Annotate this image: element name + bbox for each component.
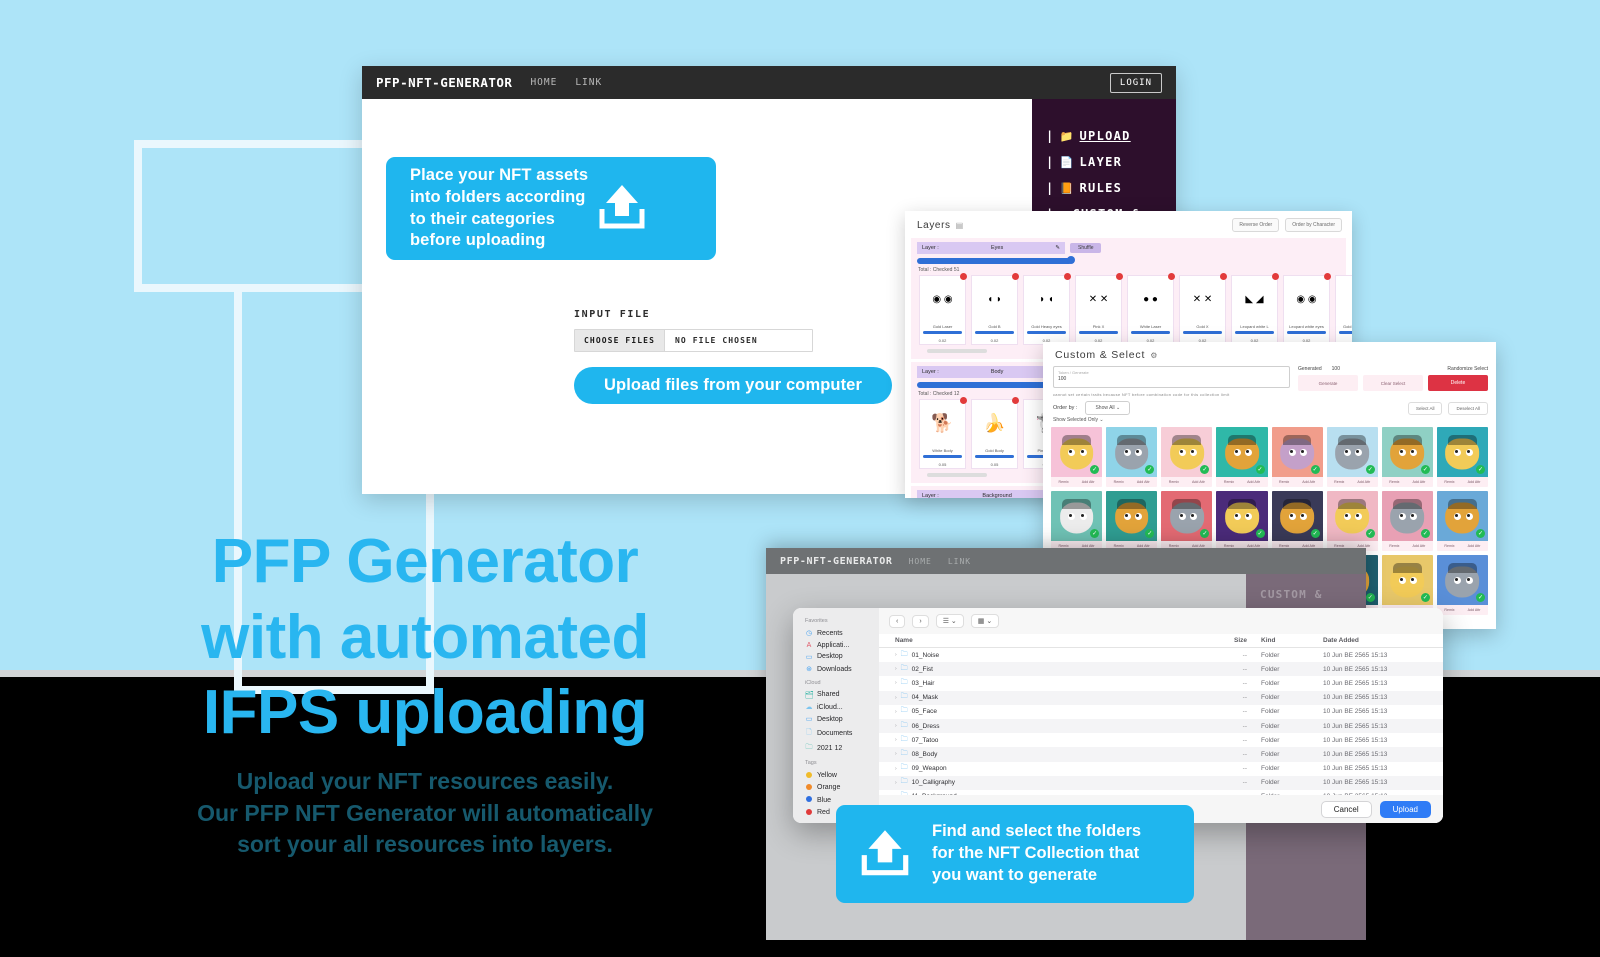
page-subtitle: Upload your NFT resources easily. Our PF… — [130, 766, 720, 861]
thumbnail-image: ◉ ◉ — [1284, 276, 1329, 323]
row-date-cell: 10 Jun BE 2565 15:13 — [1323, 666, 1433, 673]
row-name-cell[interactable]: ›🗀09_Weapon — [895, 763, 1205, 774]
row-date-cell: 10 Jun BE 2565 15:13 — [1323, 737, 1433, 744]
row-size-cell: -- — [1205, 708, 1261, 715]
column-header-size[interactable]: Size — [1205, 637, 1261, 644]
folder-icon: 🗀 — [901, 721, 908, 732]
finder-dialog: Favorites◷RecentsAApplicati...▭Desktop⊛D… — [793, 608, 1443, 823]
select-all-button[interactable]: Select All — [1408, 402, 1443, 415]
finder-sidebar-item[interactable]: 🗀2021 12 — [801, 741, 879, 756]
nft-card[interactable]: ✓RemixAdd Attr — [1051, 427, 1102, 487]
table-row[interactable]: ›🗀05_Face--Folder10 Jun BE 2565 15:13 — [879, 705, 1443, 719]
nft-artwork: ✓ — [1106, 427, 1157, 477]
nft-selected-check[interactable]: ✓ — [1311, 465, 1320, 474]
finder-sidebar-item-label: Blue — [817, 797, 831, 804]
thumbnail-image: 🍌 — [972, 400, 1017, 447]
custom-panel-header: Custom & Select ⚙ — [1043, 342, 1496, 364]
nft-add-attr-button[interactable]: Add Attr — [1468, 480, 1481, 484]
clear-select-button[interactable]: Clear Select — [1363, 375, 1423, 391]
bottom-sidebar-item-custom[interactable]: CUSTOM & — [1260, 588, 1366, 601]
row-name-cell[interactable]: ›🗀10_Calligraphy — [895, 777, 1205, 788]
grid-view-icon[interactable]: ▦ ⌄ — [971, 614, 999, 628]
cancel-button[interactable]: Cancel — [1321, 801, 1372, 818]
thumbnail-image: ✕ ✕ — [1180, 276, 1225, 323]
sidebar-bar-mark: | — [1046, 181, 1055, 195]
book-icon: 📙 — [1060, 183, 1075, 194]
table-row[interactable]: ›🗀06_Dress--Folder10 Jun BE 2565 15:13 — [879, 719, 1443, 733]
nft-selected-check[interactable]: ✓ — [1421, 465, 1430, 474]
thumbnail-image: ◣ ◢ — [1232, 276, 1277, 323]
thumbnail-weight-slider[interactable] — [1079, 331, 1118, 334]
nft-actions: RemixAdd Attr — [1216, 477, 1267, 487]
nft-remix-button[interactable]: Remix — [1389, 544, 1399, 548]
generate-buttons: Generate Clear Select Delete — [1298, 375, 1488, 391]
login-button[interactable]: LOGIN — [1110, 73, 1162, 93]
nft-selected-check[interactable]: ✓ — [1090, 529, 1099, 538]
thumbnail-image: ✕ ✕ — [1076, 276, 1121, 323]
row-size-cell: -- — [1205, 751, 1261, 758]
tag-dot-icon — [805, 796, 813, 804]
row-date-cell: 10 Jun BE 2565 15:13 — [1323, 680, 1433, 687]
nft-add-attr-button[interactable]: Add Attr — [1413, 544, 1426, 548]
nft-selected-check[interactable]: ✓ — [1145, 529, 1154, 538]
nft-remix-button[interactable]: Remix — [1444, 608, 1454, 612]
chevron-right-icon[interactable]: › — [895, 780, 897, 786]
generated-value: 100 — [1332, 366, 1340, 372]
row-name-cell[interactable]: ›🗀01_Noise — [895, 650, 1205, 661]
nft-actions: RemixAdd Attr — [1051, 477, 1102, 487]
thumbnail-weight-slider[interactable] — [923, 455, 962, 458]
shuffle-button[interactable]: Shuffle — [1070, 243, 1101, 253]
chevron-right-icon[interactable]: › — [895, 709, 897, 715]
nft-remix-button[interactable]: Remix — [1444, 544, 1454, 548]
chevron-right-icon[interactable]: › — [895, 695, 897, 701]
nft-card[interactable]: ✓RemixAdd Attr — [1161, 427, 1212, 487]
finder-sidebar: Favorites◷RecentsAApplicati...▭Desktop⊛D… — [793, 608, 879, 823]
nft-card[interactable]: ✓RemixAdd Attr — [1216, 427, 1267, 487]
nft-actions: RemixAdd Attr — [1327, 477, 1378, 487]
layer-thumbnail-card[interactable]: ◉ ◉Leopard white eyes0.02 — [1283, 275, 1330, 345]
finder-sidebar-item-label: Red — [817, 809, 830, 816]
nft-card[interactable]: ✓RemixAdd Attr — [1437, 491, 1488, 551]
delete-button[interactable]: Delete — [1428, 375, 1488, 391]
chevron-right-icon[interactable]: › — [895, 766, 897, 772]
generate-controls: Generated 100 Randomize Select Generate … — [1298, 366, 1488, 391]
nft-card[interactable]: ✓RemixAdd Attr — [1161, 491, 1212, 551]
table-row[interactable]: ›🗀10_Calligraphy--Folder10 Jun BE 2565 1… — [879, 776, 1443, 790]
thumbnail-weight-slider[interactable] — [1235, 331, 1274, 334]
order-by-label: Order by : — [1053, 405, 1077, 411]
row-name-cell[interactable]: ›🗀03_Hair — [895, 678, 1205, 689]
finder-sidebar-item[interactable]: AApplicati... — [801, 639, 879, 650]
row-folder-name: 03_Hair — [912, 680, 935, 687]
nft-actions: RemixAdd Attr — [1437, 605, 1488, 615]
nft-add-attr-button[interactable]: Add Attr — [1468, 544, 1481, 548]
finder-sidebar-item-label: Recents — [817, 630, 843, 637]
finder-sidebar-item-label: Yellow — [817, 772, 837, 779]
callout-place-assets: Place your NFT assets into folders accor… — [386, 157, 716, 260]
thumbnail-remove-badge[interactable] — [1272, 273, 1279, 280]
folder-icon: 🗀 — [901, 777, 908, 788]
thumbnail-weight-slider[interactable] — [1183, 331, 1222, 334]
nft-add-attr-button[interactable]: Add Attr — [1082, 480, 1095, 484]
document-icon: 🗋 — [805, 728, 813, 739]
nft-selected-check[interactable]: ✓ — [1476, 593, 1485, 602]
finder-sidebar-item[interactable]: ◷Recents — [801, 627, 879, 639]
table-row[interactable]: ›🗀04_Mask--Folder10 Jun BE 2565 15:13 — [879, 691, 1443, 705]
nft-actions: RemixAdd Attr — [1382, 541, 1433, 551]
sidebar-item-upload[interactable]: | 📁 UPLOAD — [1046, 129, 1176, 143]
thumbnail-remove-badge[interactable] — [1324, 273, 1331, 280]
bottom-nav-link-home[interactable]: HOME — [909, 557, 932, 566]
thumbnail-image: ◖ ◗ — [972, 276, 1017, 323]
folder-icon: 🗀 — [901, 749, 908, 760]
layer-total-label: Total : Checked — [918, 267, 952, 273]
layer-name: Background — [982, 493, 1011, 498]
finder-sidebar-item-label: 2021 12 — [817, 745, 842, 752]
nft-selected-check[interactable]: ✓ — [1256, 465, 1265, 474]
row-size-cell: -- — [1205, 737, 1261, 744]
list-view-icon[interactable]: ☰ ⌄ — [936, 614, 964, 628]
nft-card[interactable]: ✓RemixAdd Attr — [1327, 491, 1378, 551]
file-input-row[interactable]: CHOOSE FILES NO FILE CHOSEN — [574, 329, 813, 352]
row-date-cell: 10 Jun BE 2565 15:13 — [1323, 723, 1433, 730]
row-size-cell: -- — [1205, 680, 1261, 687]
layer-thumbnail-card[interactable]: ◣ ◢Leopard white L0.02 — [1231, 275, 1278, 345]
tag-dot-icon — [805, 772, 813, 780]
file-status-text: NO FILE CHOSEN — [665, 330, 768, 351]
order-by-value: Show All — [1095, 405, 1114, 411]
finder-sidebar-section-title: Favorites — [805, 618, 879, 624]
nft-selected-check[interactable]: ✓ — [1476, 465, 1485, 474]
layer-name: Body — [991, 369, 1004, 375]
folder-icon: 🗀 — [901, 664, 908, 675]
nft-add-attr-button[interactable]: Add Attr — [1137, 480, 1150, 484]
nft-selected-check[interactable]: ✓ — [1476, 529, 1485, 538]
thumbnail-remove-badge[interactable] — [1220, 273, 1227, 280]
app-brand: PFP-NFT-GENERATOR — [376, 75, 512, 90]
nft-card[interactable]: ✓RemixAdd Attr — [1272, 427, 1323, 487]
nav-link-link[interactable]: LINK — [575, 77, 602, 88]
order-by-select[interactable]: Show All ⌄ — [1085, 401, 1130, 415]
table-row[interactable]: ›🗀08_Body--Folder10 Jun BE 2565 15:13 — [879, 747, 1443, 761]
layer-thumbnail-card[interactable]: ✕ ✕Gold X0.02 — [1179, 275, 1226, 345]
thumbnail-value: 0.02 — [972, 337, 1017, 344]
finder-column-headers: Name Size Kind Date Added — [879, 634, 1443, 648]
upload-icon — [856, 826, 914, 883]
row-kind-cell: Folder — [1261, 779, 1323, 786]
layer-group: Layer :Eyes✎ShuffleTotal : Checked 51◉ ◉… — [911, 238, 1346, 359]
thumbnail-caption: Gold X — [1180, 323, 1225, 330]
layers-help-icon[interactable]: ▤ — [956, 221, 964, 230]
thumbnail-weight-slider[interactable] — [1339, 331, 1352, 334]
nft-artwork: ✓ — [1051, 491, 1102, 541]
nft-card[interactable]: ✓RemixAdd Attr — [1327, 427, 1378, 487]
row-size-cell: -- — [1205, 765, 1261, 772]
bottom-nav-link-link[interactable]: LINK — [948, 557, 971, 566]
nft-selected-check[interactable]: ✓ — [1366, 593, 1375, 602]
layer-total-value: 12 — [954, 391, 960, 397]
row-name-cell[interactable]: ›🗀02_Fist — [895, 664, 1205, 675]
nft-selected-check[interactable]: ✓ — [1256, 529, 1265, 538]
nft-card[interactable]: ✓RemixAdd Attr — [1106, 427, 1157, 487]
upload-files-button[interactable]: Upload files from your computer — [574, 367, 892, 404]
row-kind-cell: Folder — [1261, 694, 1323, 701]
row-size-cell: -- — [1205, 652, 1261, 659]
layer-thumbnail-card[interactable]: ● ●White Laser0.02 — [1127, 275, 1174, 345]
nft-remix-button[interactable]: Remix — [1059, 480, 1069, 484]
chevron-right-icon[interactable]: › — [895, 652, 897, 658]
thumbnail-weight-slider[interactable] — [1287, 331, 1326, 334]
custom-panel-title: Custom & Select — [1055, 349, 1145, 361]
nft-artwork: ✓ — [1216, 491, 1267, 541]
folder-icon: 🗀 — [901, 706, 908, 717]
edit-icon[interactable]: ✎ — [1055, 245, 1060, 251]
table-row[interactable]: ›🗀07_Tatoo--Folder10 Jun BE 2565 15:13 — [879, 733, 1443, 747]
nft-remix-button[interactable]: Remix — [1444, 480, 1454, 484]
nft-artwork: ✓ — [1382, 491, 1433, 541]
thumbnail-remove-badge[interactable] — [960, 273, 967, 280]
thumbnail-caption: White Laser — [1128, 323, 1173, 330]
upload-dialog-button[interactable]: Upload — [1380, 801, 1431, 818]
layer-thumbnail-card[interactable]: 🐕White Body0.05 — [919, 399, 966, 469]
thumbnail-image: ◉ ◉ — [920, 276, 965, 323]
column-header-kind[interactable]: Kind — [1261, 637, 1323, 644]
nft-artwork: ✓ — [1272, 427, 1323, 477]
table-row[interactable]: ›🗀03_Hair--Folder10 Jun BE 2565 15:13 — [879, 676, 1443, 690]
layer-name-box[interactable]: Layer :Eyes✎ — [917, 242, 1065, 254]
layer-thumbnail-card[interactable]: ✕ ✕Pink X0.02 — [1075, 275, 1122, 345]
thumbnail-caption: White Body — [920, 447, 965, 454]
token-generate-input[interactable]: Token / Generate 100 — [1053, 366, 1290, 388]
finder-sidebar-item[interactable]: ☁iCloud... — [801, 701, 879, 713]
finder-sidebar-item[interactable]: ▭Desktop — [801, 713, 879, 725]
reverse-order-button[interactable]: Reverse Order — [1232, 218, 1279, 232]
nft-artwork: ✓ — [1327, 427, 1378, 477]
row-folder-name: 06_Dress — [912, 723, 940, 730]
generate-button[interactable]: Generate — [1298, 375, 1358, 391]
choose-files-button[interactable]: CHOOSE FILES — [575, 330, 665, 351]
row-kind-cell: Folder — [1261, 737, 1323, 744]
chevron-right-icon[interactable]: › — [895, 680, 897, 686]
shared-folder-icon: 🗂 — [805, 691, 813, 699]
nft-add-attr-button[interactable]: Add Attr — [1357, 480, 1370, 484]
layer-thumbnail-card[interactable]: ◖ ◗Gold B0.02 — [971, 275, 1018, 345]
column-header-name[interactable]: Name — [895, 637, 1205, 644]
nft-card[interactable]: ✓RemixAdd Attr — [1437, 427, 1488, 487]
folder-icon: 🗀 — [901, 763, 908, 774]
app-navbar: PFP-NFT-GENERATOR HOME LINK LOGIN — [362, 66, 1176, 99]
nft-add-attr-button[interactable]: Add Attr — [1413, 480, 1426, 484]
nft-selected-check[interactable]: ✓ — [1145, 465, 1154, 474]
finder-sidebar-item-label: Documents — [817, 730, 852, 737]
nft-artwork: ✓ — [1161, 491, 1212, 541]
row-folder-name: 01_Noise — [912, 652, 939, 659]
nft-selected-check[interactable]: ✓ — [1311, 529, 1320, 538]
finder-sidebar-item-label: Shared — [817, 691, 840, 698]
folder-icon: 📁 — [1060, 131, 1075, 142]
layer-thumbnail-card[interactable]: 🍌Gold Body0.05 — [971, 399, 1018, 469]
thumbnail-weight-slider[interactable] — [1131, 331, 1170, 334]
thumbnail-remove-badge[interactable] — [1064, 273, 1071, 280]
row-folder-name: 02_Fist — [912, 666, 933, 673]
thumbnail-remove-badge[interactable] — [960, 397, 967, 404]
row-name-cell[interactable]: ›🗀06_Dress — [895, 721, 1205, 732]
nft-artwork: ✓ — [1272, 491, 1323, 541]
nft-card[interactable]: ✓RemixAdd Attr — [1382, 555, 1433, 615]
finder-main: ‹ › ☰ ⌄ ▦ ⌄ Name Size Kind Date Added ›🗀… — [879, 608, 1443, 823]
horizontal-scrollbar[interactable] — [927, 349, 987, 353]
finder-sidebar-item[interactable]: 🗂Shared — [801, 689, 879, 701]
table-row[interactable]: ›🗀09_Weapon--Folder10 Jun BE 2565 15:13 — [879, 762, 1443, 776]
layers-panel-title: Layers — [917, 220, 951, 231]
chevron-right-icon[interactable]: › — [895, 666, 897, 672]
layer-thumbnail-card[interactable]: ◗ ◖Gold Heavy eyes0.02 — [1023, 275, 1070, 345]
thumbnail-remove-badge[interactable] — [1012, 397, 1019, 404]
file-icon: 📄 — [1060, 157, 1075, 168]
bottom-app-brand: PFP-NFT-GENERATOR — [780, 556, 893, 567]
thumbnail-remove-badge[interactable] — [1012, 273, 1019, 280]
row-name-cell[interactable]: ›🗀07_Tatoo — [895, 735, 1205, 746]
randomize-select-label[interactable]: Randomize Select — [1447, 366, 1488, 372]
upload-icon — [594, 181, 650, 236]
show-selected-only-toggle[interactable]: Show Selected Only ⌄ — [1043, 417, 1496, 427]
layer-thumbnail-card[interactable]: ◐ ◑Gold Round eyes0.02 — [1335, 275, 1352, 345]
thumbnail-weight-slider[interactable] — [923, 331, 962, 334]
nft-artwork: ✓ — [1382, 555, 1433, 605]
deselect-all-button[interactable]: Deselect All — [1448, 402, 1488, 415]
finder-sidebar-item[interactable]: ▭Desktop — [801, 651, 879, 663]
thumbnail-weight-slider[interactable] — [975, 455, 1014, 458]
folder-icon: 🗀 — [901, 735, 908, 746]
tag-dot-icon — [805, 809, 813, 817]
tag-dot-icon — [805, 784, 813, 792]
table-row[interactable]: ›🗀01_Noise--Folder10 Jun BE 2565 15:13 — [879, 648, 1443, 662]
thumbnail-caption: Gold Round eyes — [1336, 323, 1352, 330]
finder-sidebar-item-label: Orange — [817, 784, 840, 791]
finder-sidebar-section-title: iCloud — [805, 680, 879, 686]
chevron-left-icon[interactable]: ‹ — [889, 615, 905, 628]
sidebar-item-rules[interactable]: | 📙 RULES — [1046, 181, 1176, 195]
row-folder-name: 07_Tatoo — [912, 737, 939, 744]
row-name-cell[interactable]: ›🗀05_Face — [895, 706, 1205, 717]
row-size-cell: -- — [1205, 694, 1261, 701]
layer-opacity-slider[interactable] — [917, 258, 1072, 264]
chevron-right-icon[interactable]: › — [895, 723, 897, 729]
nft-add-attr-button[interactable]: Add Attr — [1192, 480, 1205, 484]
thumbnail-caption: Leopard white eyes — [1284, 323, 1329, 330]
nft-remix-button[interactable]: Remix — [1279, 480, 1289, 484]
chevron-right-icon[interactable]: › — [895, 751, 897, 757]
nft-selected-check[interactable]: ✓ — [1090, 465, 1099, 474]
finder-sidebar-item[interactable]: Orange — [801, 782, 879, 794]
sidebar-item-label: LAYER — [1080, 155, 1123, 169]
nft-card[interactable]: ✓RemixAdd Attr — [1382, 427, 1433, 487]
thumbnail-value: 0.02 — [920, 337, 965, 344]
nft-remix-button[interactable]: Remix — [1334, 480, 1344, 484]
nft-selected-check[interactable]: ✓ — [1200, 529, 1209, 538]
nft-artwork: ✓ — [1106, 491, 1157, 541]
table-row[interactable]: ›🗀02_Fist--Folder10 Jun BE 2565 15:13 — [879, 662, 1443, 676]
nft-selected-check[interactable]: ✓ — [1421, 593, 1430, 602]
row-kind-cell: Folder — [1261, 666, 1323, 673]
layer-total-label: Total : Checked — [918, 391, 952, 397]
nft-remix-button[interactable]: Remix — [1389, 480, 1399, 484]
row-kind-cell: Folder — [1261, 680, 1323, 687]
nft-card[interactable]: ✓RemixAdd Attr — [1051, 491, 1102, 551]
finder-file-list: ›🗀01_Noise--Folder10 Jun BE 2565 15:13›🗀… — [879, 648, 1443, 795]
sidebar-bar-mark: | — [1046, 129, 1055, 143]
desktop-icon: ▭ — [805, 653, 813, 661]
folder-icon: 🗀 — [901, 650, 908, 661]
nft-remix-button[interactable]: Remix — [1114, 480, 1124, 484]
nft-selected-check[interactable]: ✓ — [1366, 465, 1375, 474]
select-all-controls: Select All Deselect All — [1408, 402, 1488, 415]
decorative-frame-line — [134, 140, 142, 292]
horizontal-scrollbar[interactable] — [927, 473, 987, 477]
row-kind-cell: Folder — [1261, 652, 1323, 659]
finder-sidebar-item-label: Applicati... — [817, 642, 849, 649]
nft-card[interactable]: ✓RemixAdd Attr — [1437, 555, 1488, 615]
thumbnail-remove-badge[interactable] — [1168, 273, 1175, 280]
finder-sidebar-item[interactable]: Yellow — [801, 769, 879, 781]
thumbnail-weight-slider[interactable] — [1027, 331, 1066, 334]
nft-add-attr-button[interactable]: Add Attr — [1302, 480, 1315, 484]
nft-add-attr-button[interactable]: Add Attr — [1468, 608, 1481, 612]
thumbnail-remove-badge[interactable] — [1116, 273, 1123, 280]
thumbnail-weight-slider[interactable] — [975, 331, 1014, 334]
nft-selected-check[interactable]: ✓ — [1421, 529, 1430, 538]
nft-card[interactable]: ✓RemixAdd Attr — [1106, 491, 1157, 551]
nft-card[interactable]: ✓RemixAdd Attr — [1216, 491, 1267, 551]
chevron-right-icon[interactable]: › — [912, 615, 928, 628]
column-header-date-added[interactable]: Date Added — [1323, 637, 1433, 644]
nft-selected-check[interactable]: ✓ — [1200, 465, 1209, 474]
sidebar-item-label: UPLOAD — [1080, 129, 1131, 143]
folder-icon: 🗀 — [901, 692, 908, 703]
nft-add-attr-button[interactable]: Add Attr — [1247, 480, 1260, 484]
layer-thumbnail-card[interactable]: ◉ ◉Gold Laser0.02 — [919, 275, 966, 345]
layer-label: Layer : — [922, 493, 939, 498]
finder-sidebar-item[interactable]: 🗋Documents — [801, 726, 879, 741]
finder-sidebar-section-title: Tags — [805, 760, 879, 766]
order-by-character-button[interactable]: Order by Character — [1285, 218, 1342, 232]
nft-artwork: ✓ — [1437, 427, 1488, 477]
row-name-cell[interactable]: ›🗀04_Mask — [895, 692, 1205, 703]
nft-card[interactable]: ✓RemixAdd Attr — [1382, 491, 1433, 551]
nft-actions: RemixAdd Attr — [1106, 477, 1157, 487]
finder-sidebar-item[interactable]: ⊛Downloads — [801, 663, 879, 675]
nft-artwork: ✓ — [1216, 427, 1267, 477]
bottom-app-navbar: PFP-NFT-GENERATOR HOME LINK — [766, 548, 1366, 574]
nft-selected-check[interactable]: ✓ — [1366, 529, 1375, 538]
nft-remix-button[interactable]: Remix — [1224, 480, 1234, 484]
chevron-right-icon[interactable]: › — [895, 737, 897, 743]
finder-sidebar-item-label: Desktop — [817, 653, 843, 660]
sidebar-item-layer[interactable]: | 📄 LAYER — [1046, 155, 1176, 169]
row-kind-cell: Folder — [1261, 723, 1323, 730]
nft-remix-button[interactable]: Remix — [1169, 480, 1179, 484]
row-name-cell[interactable]: ›🗀08_Body — [895, 749, 1205, 760]
nav-link-home[interactable]: HOME — [530, 77, 557, 88]
nft-card[interactable]: ✓RemixAdd Attr — [1272, 491, 1323, 551]
page-title: PFP Generator with automated IFPS upload… — [130, 524, 720, 751]
generated-line: Generated 100 Randomize Select — [1298, 366, 1488, 372]
layer-thumbnail-strip[interactable]: ◉ ◉Gold Laser0.02◖ ◗Gold B0.02◗ ◖Gold He… — [917, 275, 1340, 345]
row-size-cell: -- — [1205, 666, 1261, 673]
gear-icon[interactable]: ⚙ — [1150, 351, 1157, 360]
download-icon: ⊛ — [805, 665, 813, 673]
